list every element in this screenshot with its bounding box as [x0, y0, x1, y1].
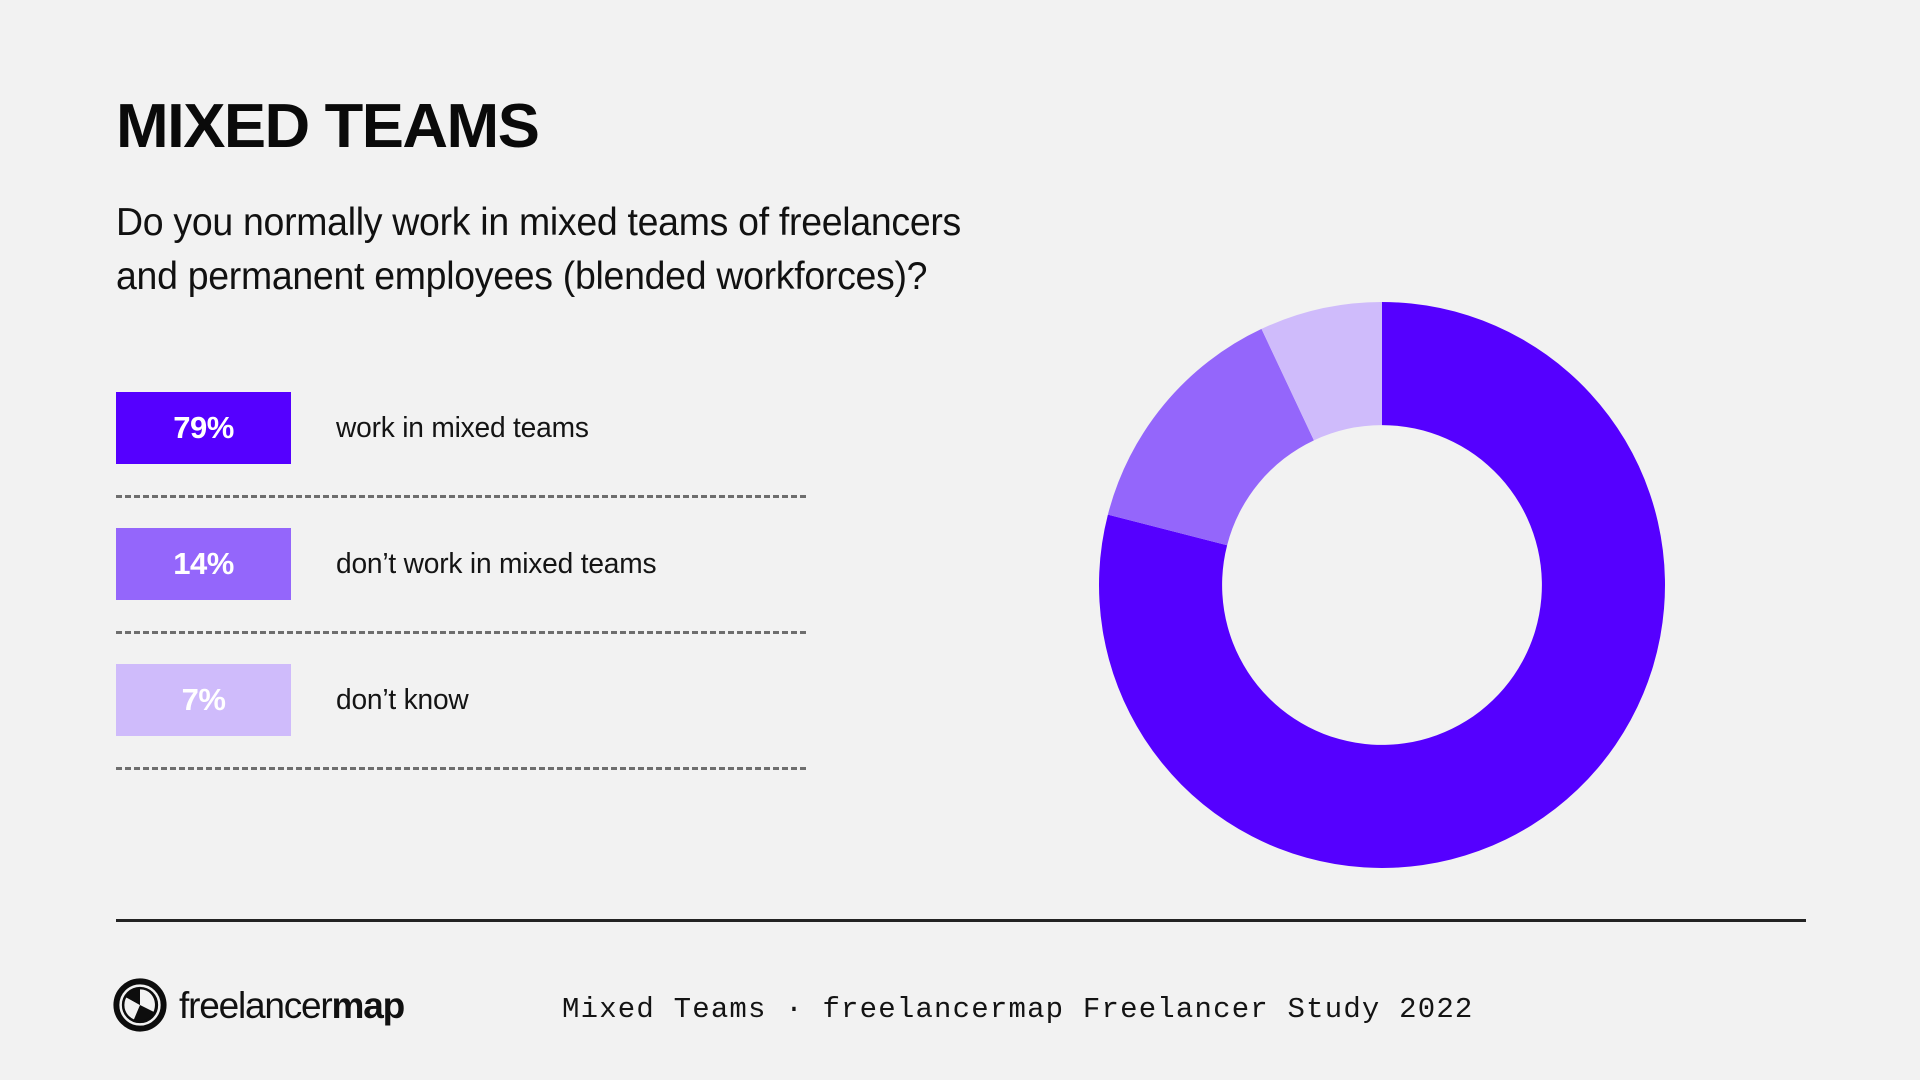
percentage-badge-0: 79%: [116, 392, 291, 464]
divider-dashed: [116, 495, 806, 498]
freelancermap-logo: freelancermap: [113, 978, 404, 1032]
legend-label-2: don’t know: [336, 684, 469, 717]
footer-divider: [116, 919, 1806, 922]
footer-caption: Mixed Teams · freelancermap Freelancer S…: [562, 993, 1474, 1026]
aperture-logo-icon: [113, 978, 167, 1032]
divider-dashed: [116, 631, 806, 634]
legend-label-0: work in mixed teams: [336, 412, 589, 445]
percentage-badge-1: 14%: [116, 528, 291, 600]
list-item: 7% don’t know: [116, 664, 806, 736]
logo-wordmark: freelancermap: [179, 987, 404, 1024]
legend-label-1: don’t work in mixed teams: [336, 548, 656, 581]
percentage-badge-2: 7%: [116, 664, 291, 736]
logo-word-bold: map: [332, 985, 404, 1026]
donut-chart-svg: [1099, 302, 1665, 868]
page-title: MIXED TEAMS: [116, 96, 538, 158]
infographic-page: MIXED TEAMS Do you normally work in mixe…: [0, 0, 1920, 1080]
list-item: 79% work in mixed teams: [116, 392, 806, 464]
donut-chart: [1099, 302, 1665, 868]
legend-list: 79% work in mixed teams 14% don’t work i…: [116, 392, 806, 800]
donut-slices: [1099, 302, 1665, 868]
list-item: 14% don’t work in mixed teams: [116, 528, 806, 600]
logo-word-light: freelancer: [179, 985, 332, 1026]
page-subtitle: Do you normally work in mixed teams of f…: [116, 196, 961, 304]
divider-dashed: [116, 767, 806, 770]
